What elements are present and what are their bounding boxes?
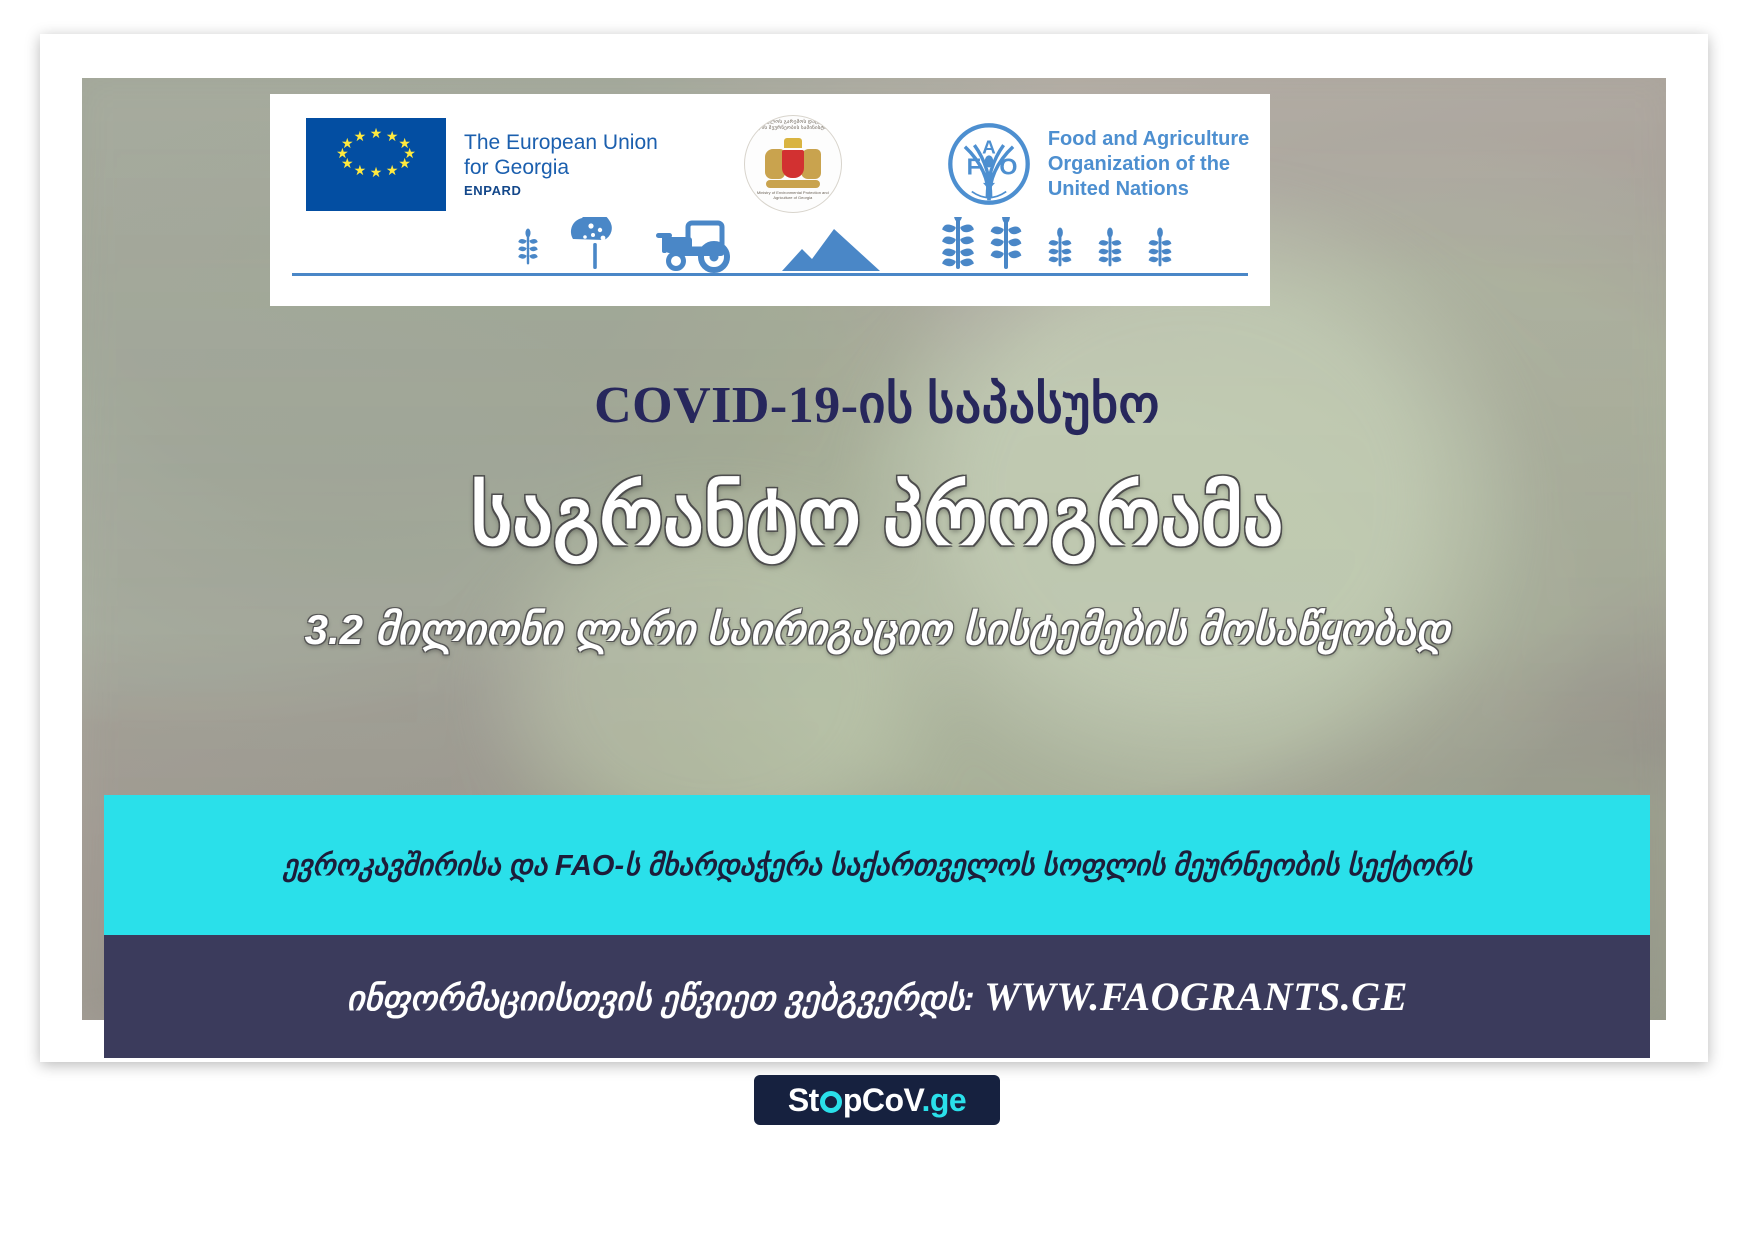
logo-row: ★ ★ ★ ★ ★ ★ ★ ★ ★ ★ ★ ★ The European Uni… [270, 108, 1270, 220]
navy-band-text: ინფორმაციისთვის ეწვიეთ ვებგვერდს: WWW.FA… [326, 973, 1428, 1020]
crown-icon [784, 138, 802, 148]
tractor-icon [656, 223, 727, 270]
wheat-small-icon [1049, 227, 1072, 266]
mountain-icon [782, 229, 880, 271]
eu-logo-line1: The European Union [464, 130, 658, 155]
fao-logo-text: Food and Agriculture Organization of the… [1048, 127, 1249, 202]
eu-logo-programme: ENPARD [464, 183, 658, 198]
eu-flag-icon: ★ ★ ★ ★ ★ ★ ★ ★ ★ ★ ★ ★ [306, 118, 446, 211]
eu-logo-text: The European Union for Georgia ENPARD [464, 130, 658, 198]
tree-icon [571, 217, 612, 269]
poster-root: ★ ★ ★ ★ ★ ★ ★ ★ ★ ★ ★ ★ The European Uni… [0, 0, 1754, 1256]
headline-grant-programme: საგრანტო პროგრამა [0, 470, 1754, 563]
stopcov-part-cov: CoV [862, 1082, 922, 1118]
stopcov-part-st: St [788, 1082, 819, 1118]
logo-bar: ★ ★ ★ ★ ★ ★ ★ ★ ★ ★ ★ ★ The European Uni… [270, 94, 1270, 306]
fao-logo-line2: Organization of the [1048, 152, 1249, 177]
seal-base-icon [766, 180, 820, 188]
cyan-band-text: ევროკავშირისა და FAO-ს მხარდაჭერა საქართ… [262, 848, 1491, 883]
georgia-seal-subtext: Ministry of Environmental Protection and… [756, 190, 830, 200]
strip-icons-group [270, 217, 1270, 273]
navy-info-band: ინფორმაციისთვის ეწვიეთ ვებგვერდს: WWW.FA… [104, 935, 1650, 1058]
stopcov-o-ring-icon [820, 1091, 842, 1113]
georgia-ministry-logo-block: საქართველოს გარემოს დაცვისა და სოფლის მე… [744, 115, 842, 213]
wheat-tall-icon [942, 217, 974, 269]
agriculture-icon-strip [270, 222, 1270, 292]
stopcov-part-ge: .ge [921, 1082, 966, 1118]
eu-logo-block: ★ ★ ★ ★ ★ ★ ★ ★ ★ ★ ★ ★ The European Uni… [306, 118, 658, 211]
lion-right-icon [801, 149, 821, 179]
wheat-small-icon [518, 229, 538, 265]
website-url[interactable]: WWW.FAOGRANTS.GE [984, 974, 1408, 1019]
fao-logo-block: F A O Food and Agriculture Organization … [946, 121, 1249, 207]
georgia-coat-of-arms-icon: საქართველოს გარემოს დაცვისა და სოფლის მე… [744, 115, 842, 213]
cyan-info-band: ევროკავშირისა და FAO-ს მხარდაჭერა საქართ… [104, 795, 1650, 935]
headline-covid-response: COVID-19-ის საპასუხო [0, 375, 1754, 435]
stopcov-badge-text: StpCoV.ge [788, 1082, 966, 1119]
stopcov-badge[interactable]: StpCoV.ge [754, 1075, 1000, 1125]
fao-logo-line1: Food and Agriculture [1048, 127, 1249, 152]
fao-emblem-icon: F A O [946, 121, 1032, 207]
svg-text:F: F [966, 153, 980, 179]
svg-text:O: O [999, 153, 1017, 179]
headline-grant-amount: 3.2 მილიონი ლარი საირიგაციო სისტემების მ… [0, 605, 1754, 654]
navy-band-label: ინფორმაციისთვის ეწვიეთ ვებგვერდს: [346, 980, 975, 1018]
wheat-tall-icon [991, 217, 1022, 269]
fao-logo-line3: United Nations [1048, 177, 1249, 202]
wheat-small-icon [1099, 227, 1122, 266]
wheat-small-icon [1149, 227, 1172, 266]
stopcov-part-p: p [843, 1082, 862, 1118]
eu-logo-line2: for Georgia [464, 155, 658, 180]
shield-icon [782, 150, 804, 178]
strip-baseline [292, 273, 1248, 276]
